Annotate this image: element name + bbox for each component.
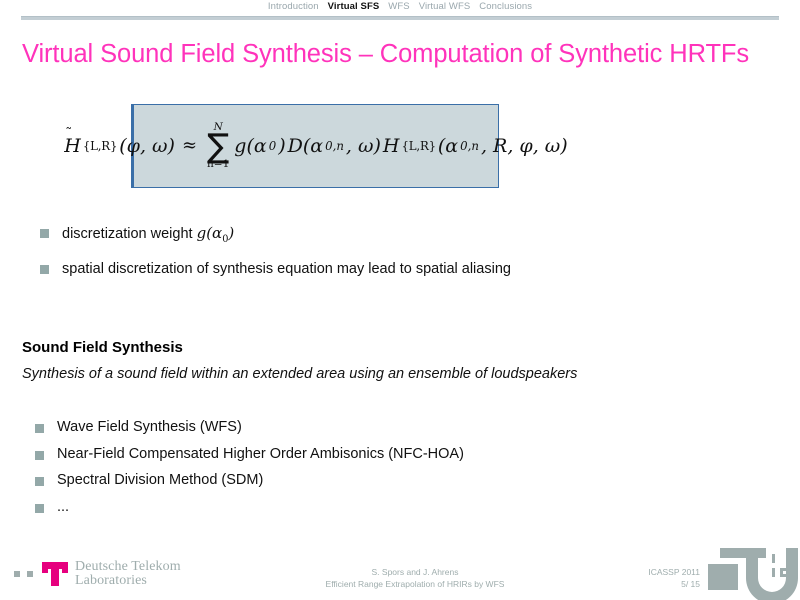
footer-center: S. Spors and J. Ahrens Efficient Range E… <box>250 566 580 590</box>
equation-lhs-subscript: {L,R} <box>83 139 117 153</box>
equation-formula: ˜ H {L,R}(φ, ω) ≈ N ∑ n=1 g(α0)D(α0,n, ω… <box>64 122 567 169</box>
equation-term-h-rest: , R, φ, ω) <box>481 135 568 157</box>
equation-term-h-sub: {L,R} <box>402 139 436 153</box>
deutsche-telekom-logo: Deutsche Telekom Laboratories <box>14 560 181 588</box>
top-navigation: Introduction Virtual SFS WFS Virtual WFS… <box>0 0 800 14</box>
bullet-text: spatial discretization of synthesis equa… <box>62 262 511 277</box>
t-right-nub-icon <box>62 562 68 573</box>
sum-lower-limit: n=1 <box>207 159 229 170</box>
nav-item-virtual-wfs[interactable]: Virtual WFS <box>419 0 471 14</box>
list-item: spatial discretization of synthesis equa… <box>40 262 511 277</box>
tilde-accent-icon: ˜ <box>65 126 72 142</box>
list-item: Spectral Division Method (SDM) <box>35 473 464 488</box>
equation-term-d-rest: , ω) <box>346 135 381 157</box>
bullet-square-icon <box>35 451 44 460</box>
bullet-square-icon <box>35 477 44 486</box>
logo-line-2: Laboratories <box>75 574 181 588</box>
bullet-square-icon <box>35 504 44 513</box>
logo-squares-icon <box>14 571 33 577</box>
bullet-list-top: discretization weight g(α0) spatial disc… <box>40 226 511 293</box>
footer-authors: S. Spors and J. Ahrens <box>250 566 580 578</box>
nav-item-conclusions[interactable]: Conclusions <box>479 0 532 14</box>
bullet-text: Spectral Division Method (SDM) <box>57 473 263 488</box>
footer-conference: ICASSP 2011 <box>600 566 700 578</box>
equation-term-h: H <box>383 135 400 157</box>
footer-paper-title: Efficient Range Extrapolation of HRIRs b… <box>250 578 580 590</box>
bullet-square-icon <box>35 424 44 433</box>
logo-square-1-icon <box>14 571 20 577</box>
logo-square-2-icon <box>27 571 33 577</box>
equation-term-h-open: (α <box>438 135 458 157</box>
list-item: Near-Field Compensated Higher Order Ambi… <box>35 447 464 462</box>
list-item: Wave Field Synthesis (WFS) <box>35 420 464 435</box>
equation-box: ˜ H {L,R}(φ, ω) ≈ N ∑ n=1 g(α0)D(α0,n, ω… <box>131 104 499 188</box>
bullet-math-expression: g(α0) <box>197 224 235 242</box>
equation-relation: ≈ <box>182 135 197 156</box>
section-subtitle: Synthesis of a sound field within an ext… <box>22 366 577 382</box>
slide-title: Virtual Sound Field Synthesis – Computat… <box>22 40 778 69</box>
summation-operator: N ∑ n=1 <box>207 122 229 169</box>
bullet-text: Wave Field Synthesis (WFS) <box>57 420 242 435</box>
equation-term-d-sub: 0,n <box>325 139 344 153</box>
equation-term-d: D(α <box>288 135 323 157</box>
bullet-text: discretization weight g(α0) <box>62 226 234 245</box>
equation-term-g-sub: 0 <box>269 139 277 153</box>
nav-item-introduction[interactable]: Introduction <box>268 0 319 14</box>
footer-right: ICASSP 2011 5/ 15 <box>600 566 700 590</box>
tu-berlin-logo-icon <box>706 548 800 600</box>
logo-line-1: Deutsche Telekom <box>75 560 181 574</box>
bullet-square-icon <box>40 265 49 274</box>
bullet-math-close: ) <box>228 224 234 242</box>
bullet-text: Near-Field Compensated Higher Order Ambi… <box>57 447 464 462</box>
bullet-text-label: discretization weight <box>62 226 197 242</box>
bullet-square-icon <box>40 229 49 238</box>
footer-page-number: 5/ 15 <box>600 578 700 590</box>
equation-term-g: g(α <box>234 135 266 157</box>
t-left-nub-icon <box>42 562 48 573</box>
list-item: ... <box>35 500 464 515</box>
bullet-list-bottom: Wave Field Synthesis (WFS) Near-Field Co… <box>35 420 464 526</box>
equation-lhs-args: (φ, ω) <box>119 135 175 157</box>
equation-term-g-close: ) <box>278 135 285 157</box>
t-stem-icon <box>51 562 59 586</box>
telekom-t-icon <box>42 562 68 586</box>
bullet-math-main: g(α <box>197 224 223 242</box>
equation-term-h-args-sub: 0,n <box>460 139 479 153</box>
section-heading: Sound Field Synthesis <box>22 339 183 356</box>
navigation-divider <box>21 16 779 20</box>
sigma-icon: ∑ <box>207 132 229 159</box>
nav-item-virtual-sfs[interactable]: Virtual SFS <box>328 0 380 14</box>
nav-item-wfs[interactable]: WFS <box>388 0 409 14</box>
list-item: discretization weight g(α0) <box>40 226 511 245</box>
logo-wordmark: Deutsche Telekom Laboratories <box>75 560 181 588</box>
bullet-text: ... <box>57 500 69 515</box>
equation-lhs-symbol: ˜ H <box>64 135 81 157</box>
